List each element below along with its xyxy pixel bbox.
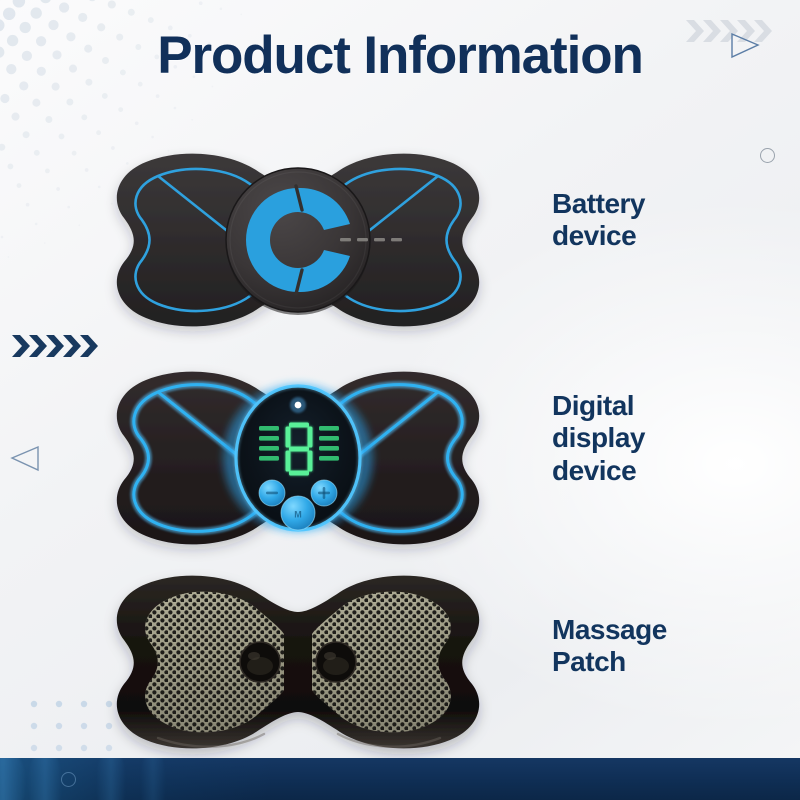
caption-battery-device: Battery device <box>552 188 645 253</box>
snap-connector-icon-left <box>240 642 280 682</box>
svg-text:M: M <box>294 510 302 520</box>
battery-device-image <box>88 140 508 340</box>
plus-button-icon <box>311 480 337 506</box>
page-title: Product Information <box>0 28 800 84</box>
infographic-canvas: Product Information <box>0 0 800 800</box>
snap-connector-icon-right <box>316 642 356 682</box>
bottom-accent-bar <box>0 758 800 800</box>
bottom-bar-circle-icon <box>61 772 76 787</box>
mode-button-icon: M <box>281 496 315 530</box>
led-dot-icon <box>290 397 306 413</box>
product-row-patch: Massage Patch <box>0 562 800 762</box>
product-row-digital: M Digital display device <box>0 358 800 558</box>
digital-display-device-image: M <box>88 358 508 558</box>
caption-digital-display-device: Digital display device <box>552 390 645 487</box>
caption-massage-patch: Massage Patch <box>552 614 667 679</box>
product-row-battery: Battery device <box>0 140 800 340</box>
minus-button-icon <box>259 480 285 506</box>
massage-patch-image <box>88 562 508 762</box>
